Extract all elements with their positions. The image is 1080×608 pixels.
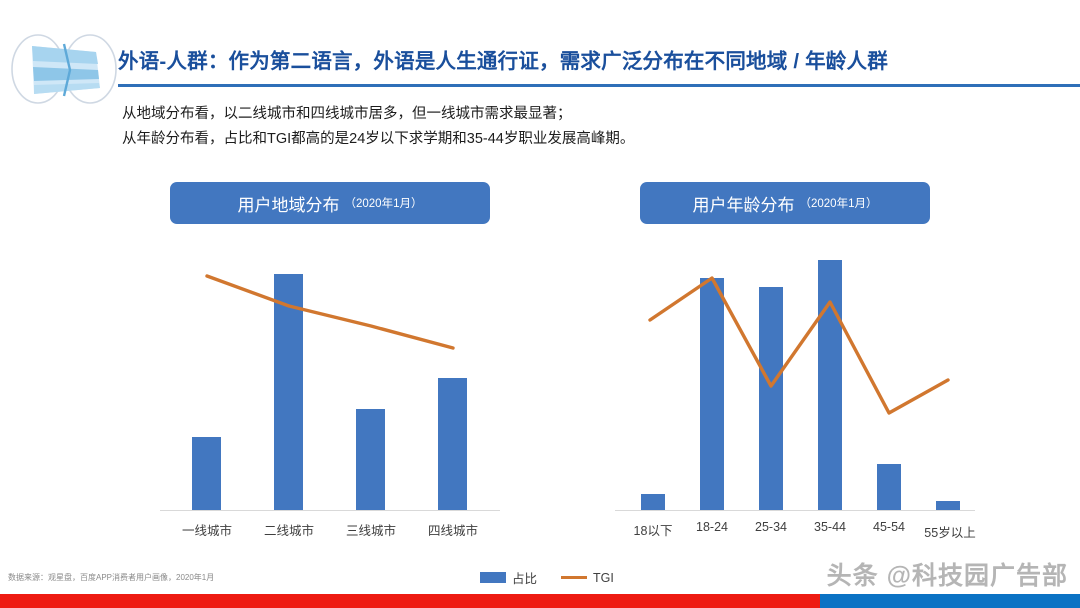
chart-title-region-sub: （2020年1月） <box>345 195 423 211</box>
xtick-age-5: 55岁以上 <box>912 522 988 541</box>
bottom-bar-blue-segment <box>820 594 1080 608</box>
bottom-accent-bar <box>0 594 1080 608</box>
chart-title-region-main: 用户地域分布 <box>238 191 340 216</box>
title-underline-divider <box>118 84 1080 87</box>
plot-area-age: 18以下 18-24 25-34 35-44 45-54 55岁以上 <box>615 250 975 540</box>
lead-line-1: 从地域分布看，以二线城市和四线城市居多，但一线城市需求最显著； <box>122 102 942 127</box>
chart-title-age-sub: （2020年1月） <box>800 195 878 211</box>
plot-area-region: 一线城市 二线城市 三线城市 四线城市 <box>160 250 500 540</box>
tgi-line-region <box>160 250 500 540</box>
source-note: 数据来源：观星盘，百度APP消费者用户画像，2020年1月 <box>8 572 214 583</box>
legend-line-label: TGI <box>593 571 614 585</box>
page-title: 外语-人群：作为第二语言，外语是人生通行证，需求广泛分布在不同地域 / 年龄人群 <box>118 44 1058 74</box>
legend-item-share: 占比 <box>480 568 537 587</box>
chart-legend: 占比 TGI <box>480 568 614 587</box>
legend-line-swatch-icon <box>561 576 587 580</box>
xtick-region-1: 二线城市 <box>249 520 329 539</box>
legend-bar-swatch-icon <box>480 572 506 583</box>
slide-canvas: 外语-人群：作为第二语言，外语是人生通行证，需求广泛分布在不同地域 / 年龄人群… <box>0 0 1080 608</box>
lead-paragraph: 从地域分布看，以二线城市和四线城市居多，但一线城市需求最显著； 从年龄分布看，占… <box>122 102 942 152</box>
bottom-bar-red-segment <box>0 594 820 608</box>
chart-title-age-main: 用户年龄分布 <box>693 191 795 216</box>
tgi-line-age <box>615 250 975 540</box>
xtick-region-2: 三线城市 <box>331 520 411 539</box>
legend-bar-label: 占比 <box>512 568 537 587</box>
chart-title-region: 用户地域分布 （2020年1月） <box>170 182 490 224</box>
face-mask-icon <box>8 30 118 108</box>
xtick-region-3: 四线城市 <box>413 520 493 539</box>
watermark: 头条 @科技园广告部 <box>827 556 1068 592</box>
xtick-region-0: 一线城市 <box>167 520 247 539</box>
legend-item-tgi: TGI <box>561 571 614 585</box>
chart-title-age: 用户年龄分布 （2020年1月） <box>640 182 930 224</box>
lead-line-2: 从年龄分布看，占比和TGI都高的是24岁以下求学期和35-44岁职业发展高峰期。 <box>122 127 942 152</box>
